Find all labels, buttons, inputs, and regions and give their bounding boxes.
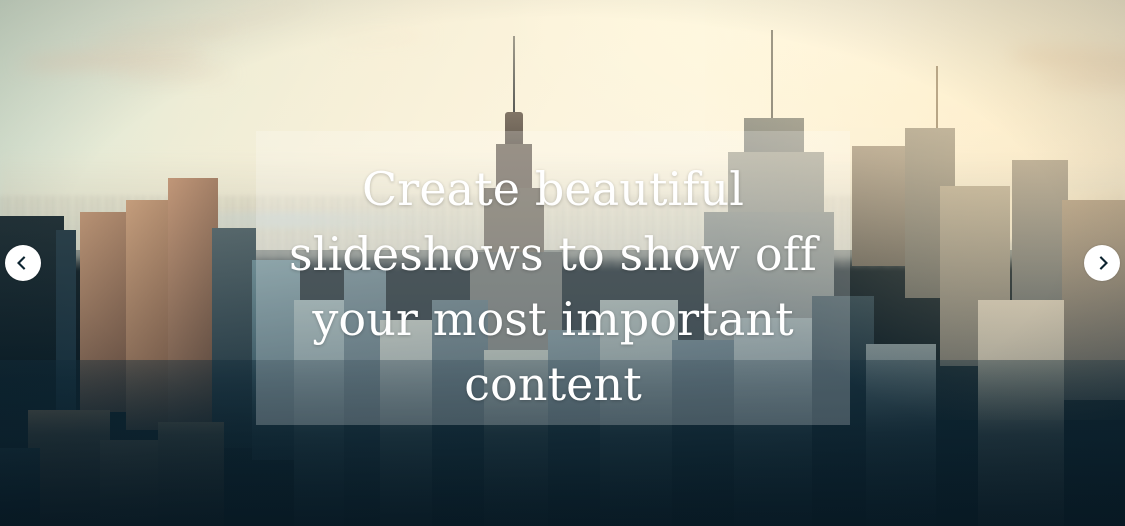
empire-state-spire xyxy=(513,36,515,114)
chevron-left-icon xyxy=(15,255,31,271)
chevron-right-icon xyxy=(1094,255,1110,271)
slideshow-hero: Create beautiful slideshows to show off … xyxy=(0,0,1125,526)
building xyxy=(505,112,523,148)
slideshow-next-button[interactable] xyxy=(1084,245,1120,281)
foreground-shadow xyxy=(0,360,1125,526)
slide-background-image xyxy=(0,0,1125,526)
antenna xyxy=(771,30,773,126)
cityscape xyxy=(0,0,1125,526)
slideshow-prev-button[interactable] xyxy=(5,245,41,281)
